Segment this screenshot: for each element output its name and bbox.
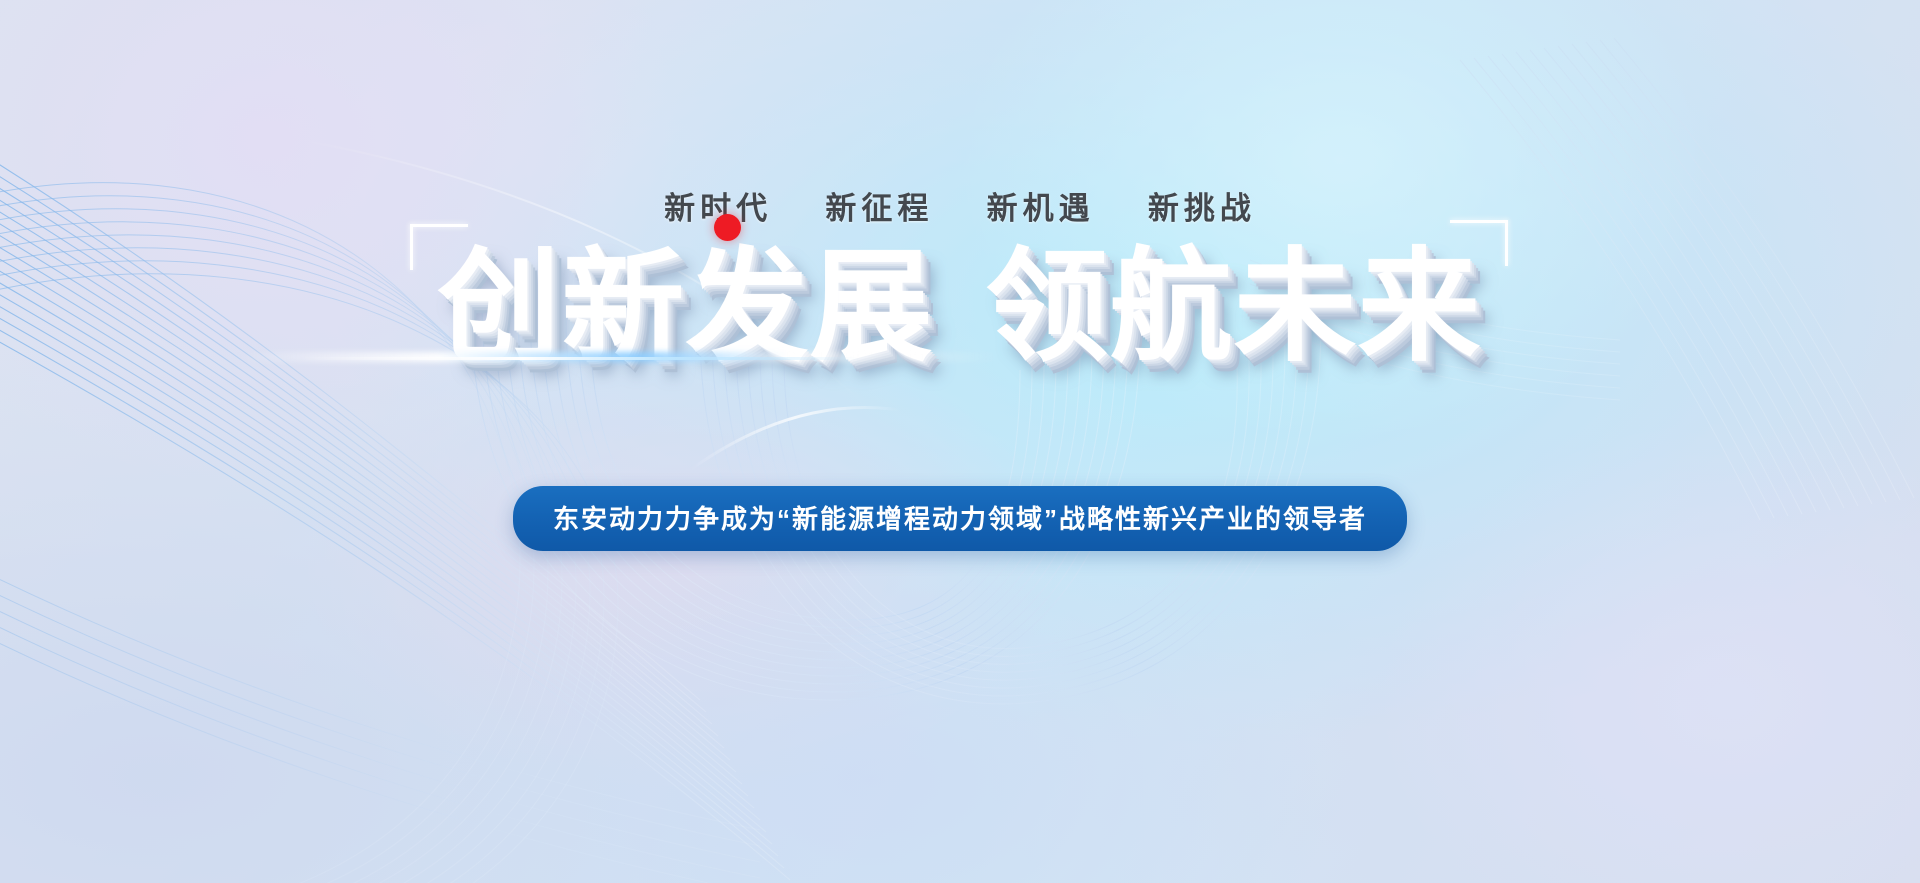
- banner-stage: 新时代 新征程 新机遇 新挑战 创新发展 领航未来: [0, 0, 1920, 883]
- main-title-part-1: 创新发展: [438, 246, 934, 368]
- main-title: 创新发展 领航未来: [0, 232, 1920, 382]
- tagline-item-3: 新挑战: [1148, 183, 1256, 228]
- tagline-item-1: 新征程: [825, 183, 933, 228]
- subtitle-pill: 东安动力力争成为“新能源增程动力领域”战略性新兴产业的领导者: [513, 486, 1407, 551]
- main-title-part-2: 领航未来: [986, 246, 1482, 368]
- red-dot-accent-icon: [714, 214, 741, 241]
- tagline: 新时代 新征程 新机遇 新挑战: [0, 183, 1920, 228]
- tagline-item-2: 新机遇: [987, 183, 1095, 228]
- subtitle-pill-container: 东安动力力争成为“新能源增程动力领域”战略性新兴产业的领导者: [0, 486, 1920, 551]
